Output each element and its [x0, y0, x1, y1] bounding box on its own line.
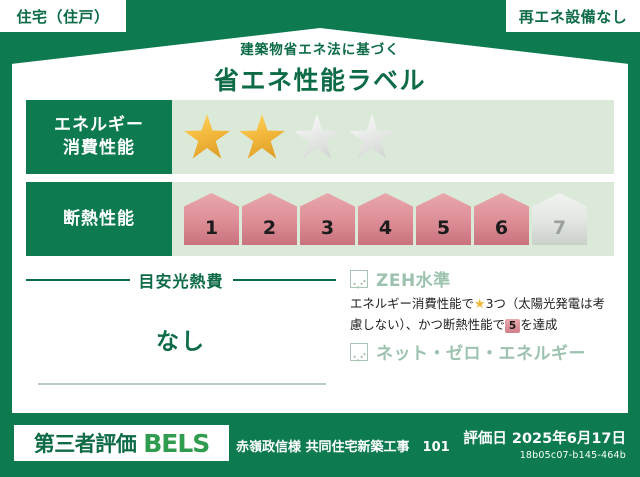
label-subtitle: 建築物省エネ法に基づく [0, 38, 640, 58]
inline-level-chip: 5 [505, 319, 520, 333]
energy-label-line2: 消費性能 [63, 137, 135, 160]
energy-performance-row: エネルギー 消費性能 [26, 100, 614, 174]
zeh-desc-part1: エネルギー消費性能で [350, 296, 474, 311]
footer-right: 評価日 2025年6月17日 18b05c07-b145-464b [463, 427, 626, 461]
net-zero-energy-label: ネット・ゼロ・エネルギー [376, 339, 586, 364]
zeh-desc-part3: を達成 [520, 317, 557, 332]
utility-cost-column: 目安光熱費 なし [26, 264, 336, 399]
star-icon-1 [184, 114, 230, 160]
project-name: 赤嶺政信様 共同住宅新築工事 101 [236, 436, 450, 455]
net-zero-energy-line: ネット・ゼロ・エネルギー [350, 339, 614, 364]
page-title: 省エネ性能ラベル [0, 61, 640, 97]
insulation-house-icon-3: 3 [300, 193, 355, 245]
title-block: 建築物省エネ法に基づく 省エネ性能ラベル [0, 38, 640, 97]
insulation-label-text: 断熱性能 [63, 208, 135, 231]
zeh-checkbox-icon[interactable] [350, 270, 368, 288]
zeh-standard-line: ZEH水準 [350, 266, 614, 291]
zeh-description: エネルギー消費性能で★3つ（太陽光発電は考慮しない）、かつ断熱性能で5を達成 [350, 294, 614, 334]
star-icon-2 [239, 114, 285, 160]
star-icon-3 [294, 114, 340, 160]
insulation-house-icon-1: 1 [184, 193, 239, 245]
insulation-performance-row: 断熱性能 1 2 3 4 5 6 7 [26, 182, 614, 256]
energy-star-rating [172, 100, 614, 174]
zeh-standard-label: ZEH水準 [376, 266, 451, 291]
lower-section: 目安光熱費 なし ZEH水準 エネルギー消費性能で★3つ（太陽光発電は考慮しない… [26, 264, 614, 399]
label-content: エネルギー 消費性能 断熱性能 1 2 3 4 5 [26, 100, 614, 400]
utility-cost-underline [38, 383, 326, 385]
renewable-equipment-badge: 再エネ設備なし [506, 0, 640, 32]
insulation-performance-label: 断熱性能 [26, 182, 172, 256]
insulation-level-wrap: 1 2 3 4 5 6 7 [184, 193, 590, 245]
insulation-house-icon-4: 4 [358, 193, 413, 245]
zeh-column: ZEH水準 エネルギー消費性能で★3つ（太陽光発電は考慮しない）、かつ断熱性能で… [336, 264, 614, 399]
insulation-house-icon-2: 2 [242, 193, 297, 245]
insulation-house-icon-6: 6 [474, 193, 529, 245]
building-type-badge: 住宅（住戸） [0, 0, 126, 32]
heading-rule-right [233, 279, 337, 281]
energy-label-root: 住宅（住戸） 再エネ設備なし 建築物省エネ法に基づく 省エネ性能ラベル エネルギ… [0, 0, 640, 477]
bels-logo: BELS [143, 429, 209, 458]
energy-performance-label: エネルギー 消費性能 [26, 100, 172, 174]
utility-cost-value: なし [26, 322, 336, 356]
energy-label-line1: エネルギー [54, 114, 144, 137]
evaluation-id: 18b05c07-b145-464b [463, 450, 626, 461]
utility-cost-heading-text: 目安光熱費 [139, 268, 224, 292]
utility-cost-heading: 目安光熱費 [26, 268, 336, 292]
star-icon-4 [349, 114, 395, 160]
heading-rule-left [26, 279, 130, 281]
net-zero-checkbox-icon[interactable] [350, 343, 368, 361]
bels-plate: 第三者評価 BELS [14, 425, 229, 461]
insulation-house-icon-5: 5 [416, 193, 471, 245]
insulation-house-icon-7: 7 [532, 193, 587, 245]
inline-star-icon: ★ [474, 297, 486, 312]
evaluation-date: 評価日 2025年6月17日 [463, 427, 626, 448]
footer: 第三者評価 BELS 赤嶺政信様 共同住宅新築工事 101 評価日 2025年6… [0, 417, 640, 477]
third-party-eval-label: 第三者評価 [34, 428, 137, 458]
insulation-levels: 1 2 3 4 5 6 7 [172, 182, 614, 256]
